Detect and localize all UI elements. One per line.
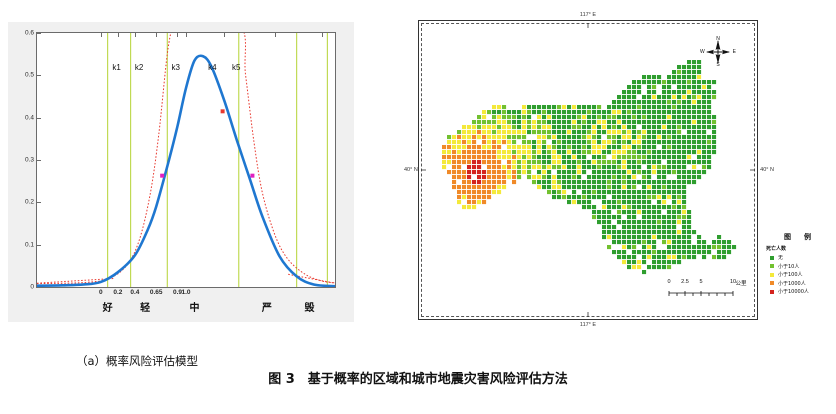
risk-cell bbox=[462, 125, 466, 129]
risk-cell bbox=[527, 150, 531, 154]
risk-cell bbox=[567, 170, 571, 174]
risk-cell bbox=[672, 115, 676, 119]
risk-cell bbox=[642, 185, 646, 189]
risk-cell bbox=[672, 90, 676, 94]
risk-cell bbox=[582, 145, 586, 149]
risk-cell bbox=[522, 125, 526, 129]
risk-cell bbox=[677, 185, 681, 189]
risk-cell bbox=[667, 155, 671, 159]
risk-cell bbox=[467, 175, 471, 179]
map-scale-bar: 02.5510公里 bbox=[667, 279, 745, 299]
risk-cell bbox=[522, 120, 526, 124]
risk-cell bbox=[642, 235, 646, 239]
risk-cell bbox=[642, 115, 646, 119]
risk-cell bbox=[572, 170, 576, 174]
risk-cell bbox=[597, 145, 601, 149]
risk-cell bbox=[667, 80, 671, 84]
risk-cell bbox=[627, 155, 631, 159]
risk-cell bbox=[657, 105, 661, 109]
risk-cell bbox=[662, 240, 666, 244]
risk-cell bbox=[652, 195, 656, 199]
risk-cell bbox=[582, 160, 586, 164]
risk-cell bbox=[637, 190, 641, 194]
risk-cell bbox=[632, 260, 636, 264]
risk-cell bbox=[642, 215, 646, 219]
risk-cell bbox=[652, 150, 656, 154]
risk-cell bbox=[672, 220, 676, 224]
risk-cell bbox=[597, 150, 601, 154]
risk-cell bbox=[662, 100, 666, 104]
risk-cell bbox=[692, 115, 696, 119]
y-axis-tick-label: 0.1 bbox=[25, 241, 34, 248]
risk-cell bbox=[697, 235, 701, 239]
risk-cell bbox=[667, 240, 671, 244]
risk-cell bbox=[672, 95, 676, 99]
risk-cell bbox=[642, 120, 646, 124]
risk-cell bbox=[627, 145, 631, 149]
risk-cell bbox=[612, 225, 616, 229]
risk-cell bbox=[572, 200, 576, 204]
risk-cell bbox=[592, 120, 596, 124]
risk-cell bbox=[557, 160, 561, 164]
risk-cell bbox=[687, 240, 691, 244]
risk-cell bbox=[462, 185, 466, 189]
risk-cell bbox=[647, 250, 651, 254]
risk-cell bbox=[682, 235, 686, 239]
risk-cell bbox=[477, 160, 481, 164]
risk-cell bbox=[472, 205, 476, 209]
risk-cell bbox=[627, 210, 631, 214]
risk-cell bbox=[632, 185, 636, 189]
risk-cell bbox=[647, 255, 651, 259]
risk-cell bbox=[652, 95, 656, 99]
risk-cell bbox=[597, 125, 601, 129]
legend-item-5[interactable]: 小于10000人 bbox=[766, 288, 832, 295]
risk-cell bbox=[442, 165, 446, 169]
legend-item-3[interactable]: 小于100人 bbox=[766, 271, 832, 278]
risk-cell bbox=[672, 235, 676, 239]
risk-cell bbox=[482, 130, 486, 134]
risk-cell bbox=[702, 130, 706, 134]
risk-cell bbox=[652, 215, 656, 219]
risk-cell bbox=[727, 245, 731, 249]
risk-cell bbox=[682, 135, 686, 139]
risk-cell bbox=[442, 155, 446, 159]
risk-cell bbox=[657, 135, 661, 139]
risk-cell bbox=[597, 185, 601, 189]
risk-cell bbox=[672, 130, 676, 134]
risk-cell bbox=[712, 95, 716, 99]
risk-cell bbox=[592, 125, 596, 129]
risk-cell bbox=[662, 250, 666, 254]
risk-cell bbox=[597, 130, 601, 134]
risk-cell bbox=[672, 195, 676, 199]
risk-cell bbox=[582, 170, 586, 174]
risk-cell bbox=[627, 165, 631, 169]
legend-item-4[interactable]: 小于1000人 bbox=[766, 280, 832, 287]
risk-cell bbox=[617, 215, 621, 219]
y-axis-tick-label: 0 bbox=[30, 284, 34, 291]
risk-cell bbox=[662, 205, 666, 209]
risk-cell bbox=[657, 125, 661, 129]
risk-cell bbox=[457, 160, 461, 164]
risk-cell bbox=[637, 225, 641, 229]
risk-cell bbox=[692, 130, 696, 134]
risk-cell bbox=[542, 165, 546, 169]
risk-cell bbox=[622, 230, 626, 234]
risk-cell bbox=[557, 110, 561, 114]
risk-cell bbox=[557, 120, 561, 124]
risk-cell bbox=[682, 200, 686, 204]
risk-cell bbox=[607, 210, 611, 214]
risk-cell bbox=[607, 180, 611, 184]
risk-cell bbox=[652, 105, 656, 109]
risk-cell bbox=[472, 185, 476, 189]
risk-cell bbox=[687, 175, 691, 179]
risk-cell bbox=[522, 170, 526, 174]
risk-cell bbox=[687, 215, 691, 219]
y-axis-tick-label: 0.5 bbox=[25, 72, 34, 79]
risk-cell bbox=[557, 115, 561, 119]
risk-cell bbox=[697, 95, 701, 99]
risk-cell bbox=[552, 120, 556, 124]
risk-cell bbox=[672, 180, 676, 184]
risk-cell bbox=[492, 170, 496, 174]
risk-cell bbox=[632, 100, 636, 104]
risk-cell bbox=[632, 240, 636, 244]
risk-cell bbox=[657, 225, 661, 229]
risk-cell bbox=[662, 195, 666, 199]
risk-cell bbox=[622, 175, 626, 179]
risk-cell bbox=[587, 190, 591, 194]
risk-cell bbox=[682, 120, 686, 124]
risk-cell bbox=[602, 120, 606, 124]
x-axis-tick-label: 0.65 bbox=[150, 289, 163, 296]
risk-cell bbox=[502, 185, 506, 189]
risk-cell bbox=[577, 140, 581, 144]
risk-cell bbox=[677, 155, 681, 159]
risk-cell bbox=[672, 110, 676, 114]
risk-cell bbox=[677, 170, 681, 174]
risk-cell bbox=[672, 215, 676, 219]
risk-cell bbox=[662, 150, 666, 154]
risk-cell bbox=[507, 135, 511, 139]
risk-cell bbox=[507, 130, 511, 134]
risk-cell bbox=[682, 250, 686, 254]
risk-cell bbox=[612, 185, 616, 189]
risk-cell bbox=[602, 125, 606, 129]
risk-cell bbox=[582, 195, 586, 199]
risk-cell bbox=[447, 140, 451, 144]
risk-cell bbox=[467, 200, 471, 204]
risk-cell bbox=[552, 135, 556, 139]
legend-item-2[interactable]: 小于10人 bbox=[766, 263, 832, 270]
risk-cell bbox=[607, 175, 611, 179]
risk-cell bbox=[622, 125, 626, 129]
compass-west-label: W bbox=[700, 49, 705, 55]
risk-cell bbox=[532, 125, 536, 129]
risk-cell bbox=[467, 140, 471, 144]
risk-cell bbox=[677, 165, 681, 169]
risk-cell bbox=[692, 60, 696, 64]
risk-cell bbox=[592, 160, 596, 164]
risk-cell bbox=[652, 230, 656, 234]
risk-cell bbox=[712, 145, 716, 149]
risk-cell bbox=[657, 260, 661, 264]
risk-cell bbox=[642, 110, 646, 114]
risk-cell bbox=[457, 185, 461, 189]
risk-cell bbox=[627, 190, 631, 194]
risk-cell bbox=[662, 220, 666, 224]
risk-cell bbox=[642, 75, 646, 79]
risk-cell bbox=[602, 140, 606, 144]
risk-cell bbox=[627, 185, 631, 189]
risk-cell bbox=[562, 135, 566, 139]
risk-cell bbox=[662, 265, 666, 269]
risk-cell bbox=[657, 155, 661, 159]
risk-cell bbox=[472, 160, 476, 164]
risk-cell bbox=[547, 135, 551, 139]
risk-cell bbox=[482, 160, 486, 164]
risk-cell bbox=[552, 160, 556, 164]
risk-cell bbox=[572, 120, 576, 124]
risk-cell bbox=[537, 115, 541, 119]
risk-cell bbox=[547, 110, 551, 114]
risk-cell bbox=[497, 110, 501, 114]
risk-cell bbox=[627, 150, 631, 154]
risk-cell bbox=[527, 105, 531, 109]
risk-cell bbox=[682, 240, 686, 244]
risk-cell bbox=[487, 160, 491, 164]
risk-cell bbox=[642, 205, 646, 209]
risk-cell bbox=[617, 120, 621, 124]
risk-cell bbox=[637, 110, 641, 114]
risk-cell bbox=[612, 160, 616, 164]
risk-cell bbox=[677, 190, 681, 194]
risk-cell bbox=[677, 200, 681, 204]
risk-cell bbox=[547, 105, 551, 109]
risk-cell bbox=[572, 190, 576, 194]
risk-cell bbox=[512, 140, 516, 144]
risk-cell bbox=[487, 130, 491, 134]
risk-cell bbox=[667, 140, 671, 144]
risk-cell bbox=[567, 120, 571, 124]
risk-cell bbox=[657, 205, 661, 209]
risk-cell bbox=[612, 140, 616, 144]
risk-cell bbox=[542, 180, 546, 184]
risk-cell bbox=[697, 80, 701, 84]
risk-cell bbox=[657, 120, 661, 124]
risk-cell bbox=[592, 115, 596, 119]
risk-cell bbox=[527, 155, 531, 159]
risk-cell bbox=[677, 235, 681, 239]
risk-cell bbox=[477, 145, 481, 149]
risk-cell bbox=[592, 170, 596, 174]
risk-cell bbox=[697, 145, 701, 149]
risk-cell bbox=[512, 180, 516, 184]
risk-cell bbox=[562, 155, 566, 159]
risk-cell bbox=[537, 135, 541, 139]
risk-cell bbox=[462, 195, 466, 199]
risk-cell bbox=[697, 70, 701, 74]
risk-cell bbox=[622, 100, 626, 104]
risk-cell bbox=[692, 65, 696, 69]
risk-cell bbox=[667, 220, 671, 224]
risk-cell bbox=[722, 255, 726, 259]
risk-cell bbox=[622, 250, 626, 254]
risk-cell bbox=[697, 110, 701, 114]
risk-cell bbox=[527, 170, 531, 174]
risk-cell bbox=[672, 80, 676, 84]
risk-cell bbox=[572, 185, 576, 189]
risk-cell bbox=[682, 110, 686, 114]
risk-cell bbox=[682, 205, 686, 209]
risk-cell bbox=[622, 105, 626, 109]
y-axis-tick-label: 0.2 bbox=[25, 199, 34, 206]
risk-cell bbox=[672, 205, 676, 209]
risk-cell bbox=[462, 190, 466, 194]
risk-cell bbox=[467, 145, 471, 149]
risk-cell bbox=[647, 160, 651, 164]
risk-cell bbox=[577, 125, 581, 129]
risk-cell bbox=[617, 145, 621, 149]
risk-cell bbox=[517, 130, 521, 134]
risk-cell bbox=[687, 255, 691, 259]
risk-cell bbox=[592, 110, 596, 114]
legend-item-1[interactable]: 无 bbox=[766, 254, 832, 261]
risk-cell bbox=[677, 110, 681, 114]
risk-cell bbox=[632, 215, 636, 219]
risk-cell bbox=[732, 245, 736, 249]
risk-cell bbox=[557, 150, 561, 154]
risk-cell bbox=[557, 185, 561, 189]
risk-cell bbox=[687, 120, 691, 124]
risk-cell bbox=[562, 190, 566, 194]
legend-item-label: 小于100人 bbox=[778, 271, 803, 278]
risk-cell bbox=[622, 205, 626, 209]
risk-cell bbox=[612, 235, 616, 239]
risk-cell bbox=[517, 115, 521, 119]
risk-cell bbox=[612, 120, 616, 124]
risk-cell bbox=[707, 95, 711, 99]
risk-cell bbox=[622, 235, 626, 239]
risk-cell bbox=[672, 100, 676, 104]
risk-cell bbox=[662, 95, 666, 99]
risk-cell bbox=[452, 135, 456, 139]
risk-cell bbox=[617, 250, 621, 254]
risk-cell bbox=[607, 200, 611, 204]
risk-cell bbox=[542, 185, 546, 189]
risk-cell bbox=[577, 130, 581, 134]
risk-cell bbox=[677, 85, 681, 89]
risk-cell bbox=[577, 135, 581, 139]
risk-cell bbox=[712, 80, 716, 84]
risk-cell bbox=[442, 150, 446, 154]
risk-cell bbox=[577, 150, 581, 154]
risk-cell bbox=[637, 105, 641, 109]
risk-cell bbox=[662, 225, 666, 229]
risk-cell bbox=[452, 155, 456, 159]
risk-cell bbox=[447, 160, 451, 164]
risk-cell bbox=[647, 180, 651, 184]
risk-cell bbox=[617, 195, 621, 199]
risk-cell bbox=[517, 165, 521, 169]
risk-cell bbox=[622, 150, 626, 154]
risk-cell bbox=[697, 135, 701, 139]
risk-cell bbox=[667, 90, 671, 94]
risk-cell bbox=[677, 180, 681, 184]
risk-cell bbox=[492, 140, 496, 144]
risk-cell bbox=[502, 115, 506, 119]
risk-cell bbox=[707, 100, 711, 104]
risk-cell bbox=[682, 95, 686, 99]
risk-cell bbox=[552, 105, 556, 109]
risk-cell bbox=[632, 180, 636, 184]
risk-cell bbox=[717, 245, 721, 249]
risk-cell bbox=[547, 165, 551, 169]
risk-cell bbox=[682, 185, 686, 189]
risk-cell bbox=[592, 155, 596, 159]
risk-cell bbox=[632, 265, 636, 269]
risk-cell bbox=[447, 135, 451, 139]
risk-cell bbox=[697, 105, 701, 109]
risk-cell bbox=[632, 250, 636, 254]
risk-cell bbox=[582, 185, 586, 189]
risk-cell bbox=[632, 90, 636, 94]
risk-cell bbox=[492, 190, 496, 194]
risk-cell bbox=[632, 120, 636, 124]
legend-title: 图 例 bbox=[766, 232, 832, 242]
risk-cell bbox=[527, 125, 531, 129]
risk-cell bbox=[702, 250, 706, 254]
risk-cell bbox=[612, 250, 616, 254]
risk-cell bbox=[632, 150, 636, 154]
risk-cell bbox=[557, 145, 561, 149]
risk-cell bbox=[592, 135, 596, 139]
risk-cell bbox=[462, 170, 466, 174]
risk-cell bbox=[697, 150, 701, 154]
risk-cell bbox=[477, 175, 481, 179]
risk-cell bbox=[512, 120, 516, 124]
risk-cell bbox=[487, 190, 491, 194]
risk-cell bbox=[557, 140, 561, 144]
risk-cell bbox=[487, 125, 491, 129]
risk-cell bbox=[492, 115, 496, 119]
risk-cell bbox=[667, 130, 671, 134]
risk-cell bbox=[657, 235, 661, 239]
risk-cell bbox=[652, 220, 656, 224]
risk-cell bbox=[622, 145, 626, 149]
risk-cell bbox=[597, 140, 601, 144]
risk-cell bbox=[537, 180, 541, 184]
risk-cell bbox=[502, 170, 506, 174]
legend-item-label: 小于10人 bbox=[778, 263, 799, 270]
risk-cell bbox=[477, 155, 481, 159]
risk-cell bbox=[617, 240, 621, 244]
risk-cell bbox=[527, 145, 531, 149]
risk-cell bbox=[522, 110, 526, 114]
risk-cell bbox=[547, 180, 551, 184]
risk-cell bbox=[677, 205, 681, 209]
risk-cell bbox=[677, 100, 681, 104]
risk-cell bbox=[617, 125, 621, 129]
risk-cell bbox=[587, 135, 591, 139]
risk-cell bbox=[677, 125, 681, 129]
risk-cell bbox=[667, 255, 671, 259]
risk-cell bbox=[637, 230, 641, 234]
risk-cell bbox=[692, 95, 696, 99]
y-axis-tick-label: 0.3 bbox=[25, 157, 34, 164]
